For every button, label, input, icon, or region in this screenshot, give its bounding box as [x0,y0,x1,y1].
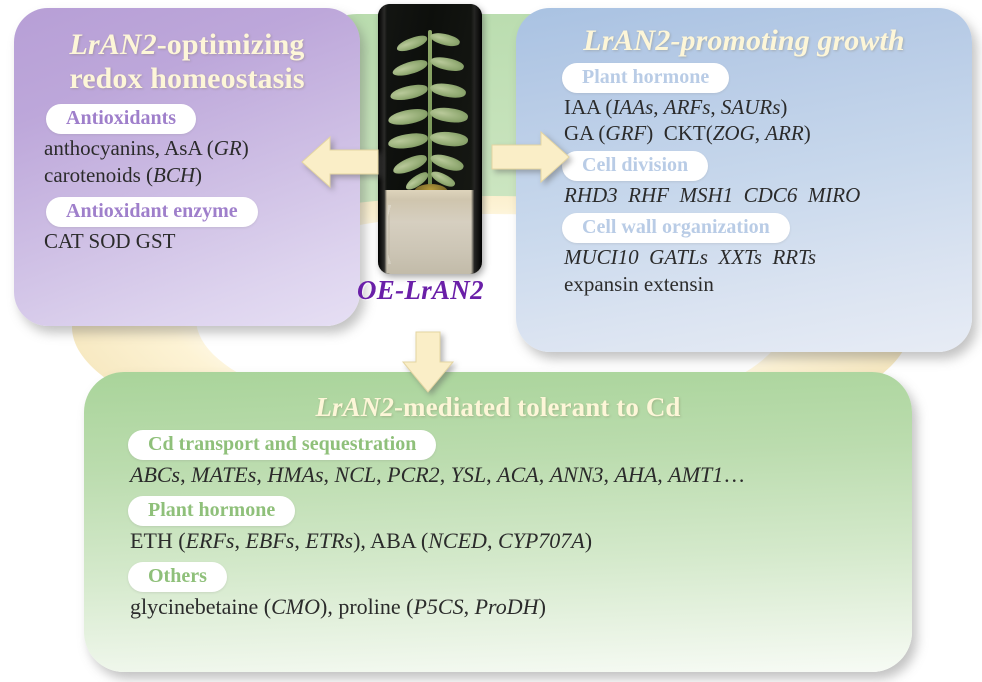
pill-cell-wall-organization[interactable]: Cell wall organization [562,213,790,243]
plant-tissue-culture-photo [378,4,482,274]
panel-bottom-title-gene: LrAN2 [315,392,394,422]
pill-others[interactable]: Others [128,562,227,592]
arrow-right-icon [489,128,571,186]
group-plant-hormone-cd: Plant hormone ETH (ERFs, EBFs, ETRs), AB… [110,496,886,554]
panel-cd-tolerance[interactable]: LrAN2-mediated tolerant to Cd Cd transpo… [84,372,912,672]
test-tube-right-edge [471,4,482,274]
panel-promoting-growth[interactable]: LrAN2-promoting growth Plant hormone IAA… [516,8,972,352]
line-cell-wall-1: MUCI10 GATLs XXTs RRTs [564,245,952,270]
panel-left-title: LrAN2-optimizing redox homeostasis [32,22,342,95]
line-antioxidant-enzyme-1: CAT SOD GST [44,229,342,254]
group-cell-division: Cell division RHD3 RHF MSH1 CDC6 MIRO [536,151,952,208]
panel-right-title-rest: -promoting growth [670,24,904,57]
group-cell-wall-organization: Cell wall organization MUCI10 GATLs XXTs… [536,213,952,297]
group-others: Others glycinebetaine (CMO), proline (P5… [110,562,886,620]
line-antioxidants-1: anthocyanins, AsA (GR) [44,136,342,161]
oe-lran2-label: OE-LrAN2 [357,275,484,306]
culture-medium [378,190,482,274]
pill-antioxidants[interactable]: Antioxidants [46,104,196,134]
group-antioxidants: Antioxidants anthocyanins, AsA (GR) caro… [34,104,342,188]
line-plant-hormone-growth-1: IAA (IAAs, ARFs, SAURs) [564,95,952,120]
panel-left-title-line2: redox homeostasis [69,62,304,95]
line-plant-hormone-cd-1: ETH (ERFs, EBFs, ETRs), ABA (NCED, CYP70… [130,528,886,554]
line-plant-hormone-growth-2: GA (GRF) CKT(ZOG, ARR) [564,121,952,146]
line-cd-transport-1: ABCs, MATEs, HMAs, NCL, PCR2, YSL, ACA, … [130,462,886,488]
pill-plant-hormone-growth[interactable]: Plant hormone [562,63,729,93]
diagram-canvas: LrAN2-optimizing redox homeostasis Antio… [0,0,982,682]
line-cell-division-1: RHD3 RHF MSH1 CDC6 MIRO [564,183,952,208]
line-cell-wall-2: expansin extensin [564,272,952,297]
group-cd-transport: Cd transport and sequestration ABCs, MAT… [110,430,886,488]
panel-bottom-title-rest: -mediated tolerant to Cd [394,392,681,422]
group-plant-hormone-growth: Plant hormone IAA (IAAs, ARFs, SAURs) GA… [536,63,952,147]
pill-cell-division[interactable]: Cell division [562,151,708,181]
arrow-down-icon [399,330,457,394]
panel-bottom-title: LrAN2-mediated tolerant to Cd [110,386,886,422]
photo-inner [378,4,482,274]
panel-right-title: LrAN2-promoting growth [536,20,952,58]
line-others-1: glycinebetaine (CMO), proline (P5CS, Pro… [130,594,886,620]
panel-right-title-gene: LrAN2 [583,24,670,57]
panel-left-title-rest: -optimizing [157,28,305,61]
line-antioxidants-2: carotenoids (BCH) [44,163,342,188]
panel-left-title-gene: LrAN2 [70,28,157,61]
pill-plant-hormone-cd[interactable]: Plant hormone [128,496,295,526]
arrow-left-icon [300,133,380,191]
pill-antioxidant-enzyme[interactable]: Antioxidant enzyme [46,197,258,227]
group-antioxidant-enzyme: Antioxidant enzyme CAT SOD GST [34,197,342,254]
pill-cd-transport-and-sequestration[interactable]: Cd transport and sequestration [128,430,436,460]
